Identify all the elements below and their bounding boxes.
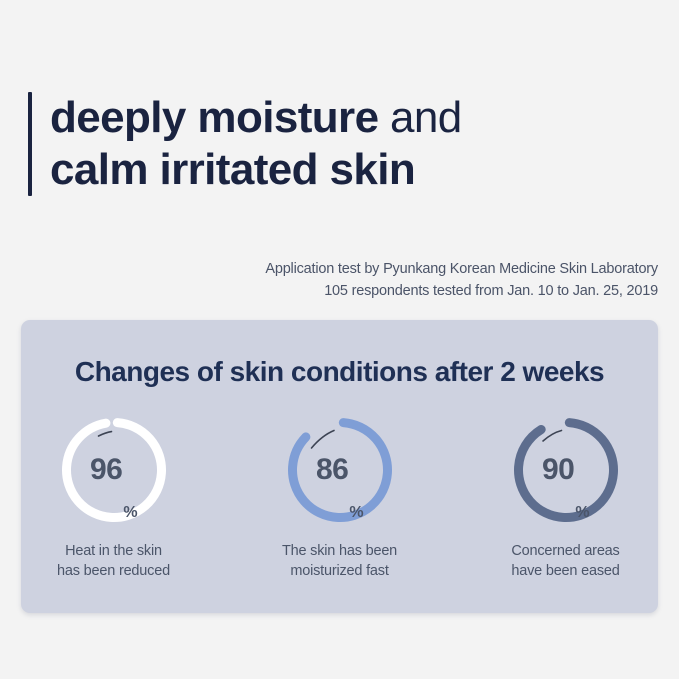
donut-caption: Heat in the skin has been reduced bbox=[57, 542, 170, 581]
donut-chart: 86% bbox=[284, 414, 396, 526]
donut-caption: The skin has been moisturized fast bbox=[282, 542, 397, 581]
headline-line-1-light: and bbox=[378, 93, 461, 142]
donut-caption-line-2: has been reduced bbox=[57, 562, 170, 582]
donut-arc bbox=[289, 419, 390, 520]
donut-svg bbox=[58, 414, 170, 526]
donut-arc bbox=[63, 419, 164, 520]
donut-caption-line-1: The skin has been bbox=[282, 542, 397, 562]
card-title: Changes of skin conditions after 2 weeks bbox=[21, 356, 658, 388]
headline-line-1-strong: deeply moisture bbox=[50, 93, 378, 142]
headline-line-1: deeply moisture and bbox=[50, 92, 462, 144]
donut-caption-line-2: moisturized fast bbox=[282, 562, 397, 582]
headline-accent-bar bbox=[28, 92, 32, 196]
donut-chart: 90% bbox=[510, 414, 622, 526]
headline-line-2: calm irritated skin bbox=[50, 144, 462, 196]
donut-tail-icon bbox=[543, 431, 562, 442]
donut-tail-icon bbox=[311, 431, 334, 449]
donut-chart: 96% bbox=[58, 414, 170, 526]
donut-caption-line-2: have been eased bbox=[511, 562, 619, 582]
subtitle-line-1: Application test by Pyunkang Korean Medi… bbox=[265, 258, 658, 280]
subtitle-line-2: 105 respondents tested from Jan. 10 to J… bbox=[265, 280, 658, 302]
donut-svg bbox=[284, 414, 396, 526]
donut-item: 86% The skin has been moisturized fast bbox=[260, 414, 420, 581]
subtitle: Application test by Pyunkang Korean Medi… bbox=[265, 258, 658, 303]
donut-caption-line-1: Heat in the skin bbox=[57, 542, 170, 562]
headline-text: deeply moisture and calm irritated skin bbox=[50, 92, 462, 196]
headline: deeply moisture and calm irritated skin bbox=[28, 92, 462, 196]
donut-caption-line-1: Concerned areas bbox=[511, 542, 619, 562]
stats-card: Changes of skin conditions after 2 weeks… bbox=[21, 320, 658, 613]
donut-svg bbox=[510, 414, 622, 526]
donut-arc bbox=[515, 419, 616, 520]
donut-caption: Concerned areas have been eased bbox=[511, 542, 619, 581]
donut-item: 90% Concerned areas have been eased bbox=[486, 414, 646, 581]
donut-tail-icon bbox=[98, 432, 111, 436]
donut-item: 96% Heat in the skin has been reduced bbox=[34, 414, 194, 581]
donut-chart-row: 96% Heat in the skin has been reduced 86… bbox=[21, 414, 658, 581]
